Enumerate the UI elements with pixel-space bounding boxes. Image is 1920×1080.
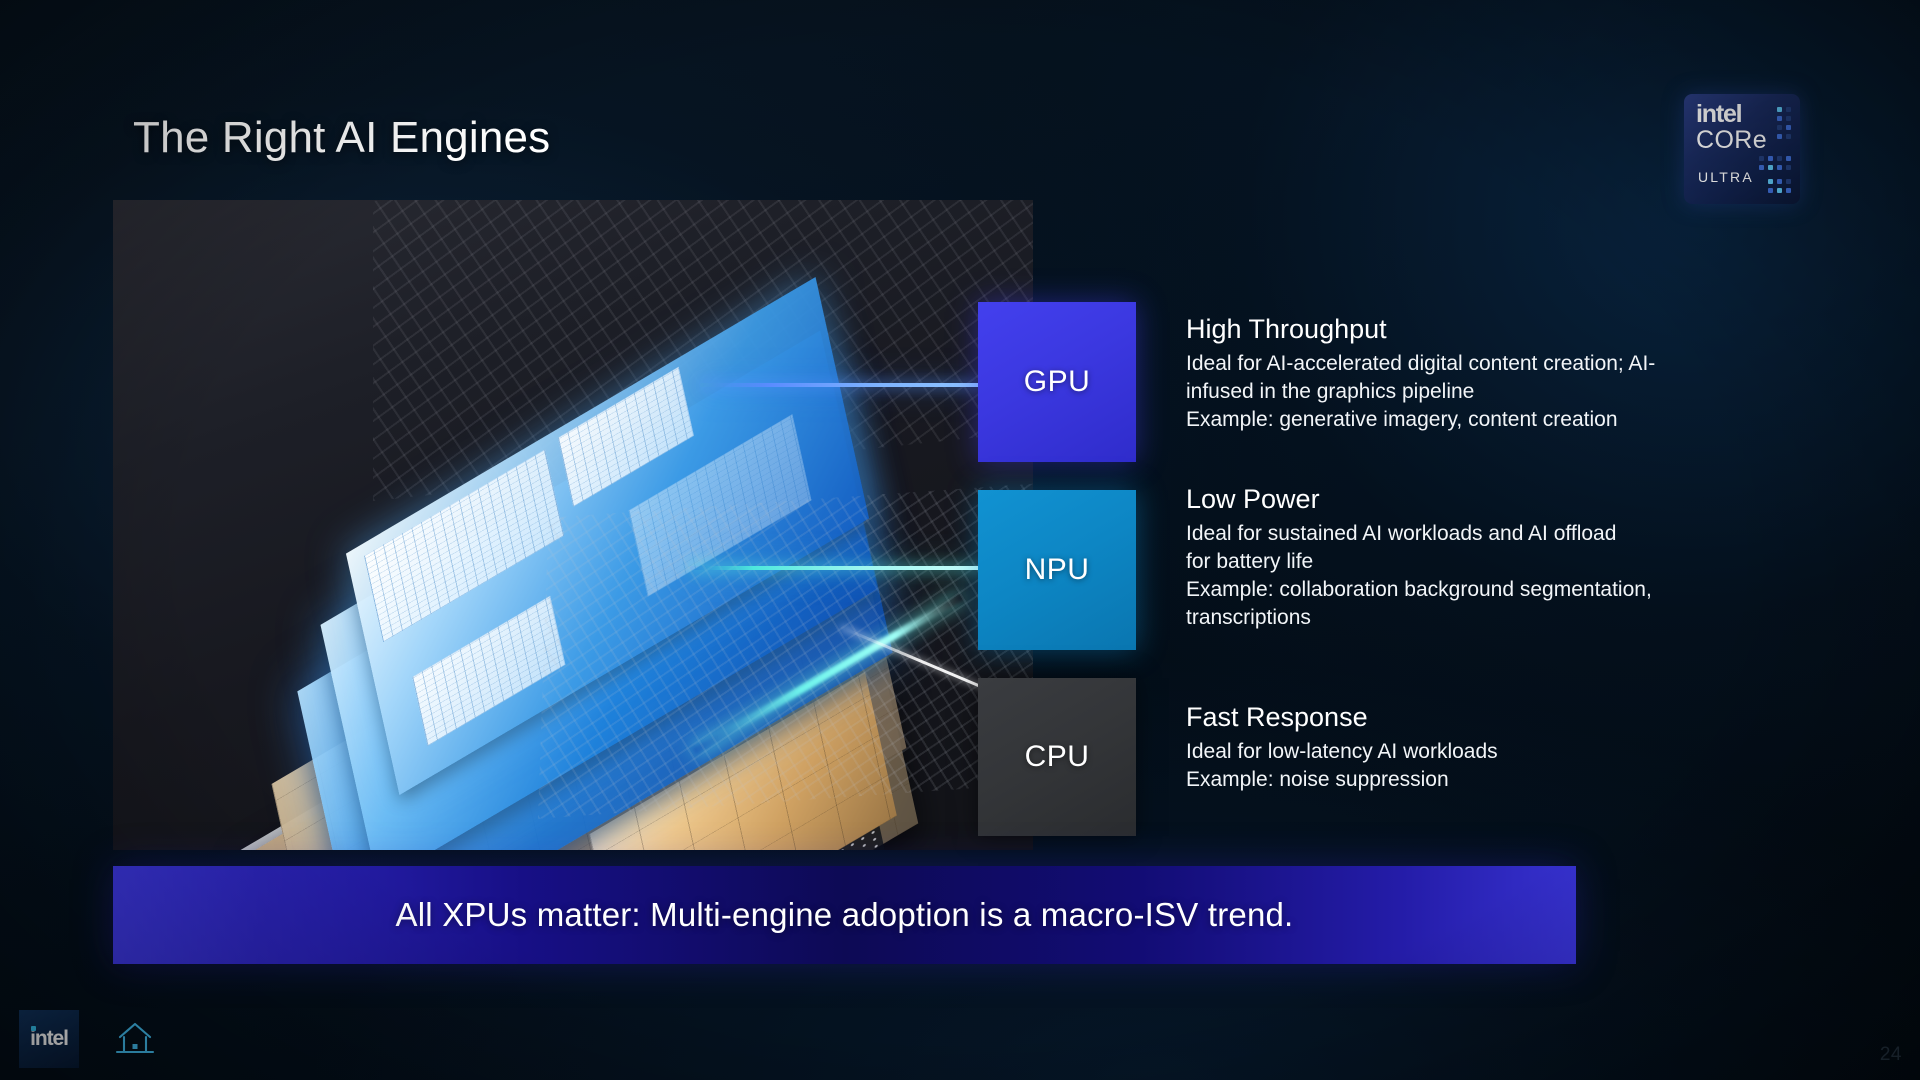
engine-npu-line-3: Example: collaboration background segmen…: [1186, 576, 1786, 604]
connector-line-npu: [690, 566, 980, 570]
engine-chip-cpu[interactable]: CPU: [978, 678, 1136, 836]
connector-line-gpu: [700, 383, 980, 387]
engine-chip-npu-label: NPU: [1025, 553, 1090, 587]
intel-logo: intel: [19, 1010, 79, 1068]
engine-gpu-line-3: Example: generative imagery, content cre…: [1186, 406, 1786, 434]
slide-canvas: The Right AI Engines intel CORe ULTRA: [0, 0, 1920, 1080]
badge-dots-bottom-right-icon: [1768, 179, 1791, 193]
engine-description-gpu: High Throughput Ideal for AI-accelerated…: [1186, 314, 1786, 434]
engine-chip-gpu-label: GPU: [1024, 365, 1091, 399]
engine-cpu-line-1: Ideal for low-latency AI workloads: [1186, 738, 1786, 766]
intel-core-ultra-badge: intel CORe ULTRA: [1684, 94, 1800, 204]
engine-cpu-line-2: Example: noise suppression: [1186, 766, 1786, 794]
engine-npu-line-4: transcriptions: [1186, 604, 1786, 632]
engine-chip-npu[interactable]: NPU: [978, 490, 1136, 650]
badge-dots-top-right-icon: [1777, 107, 1791, 139]
engine-npu-line-2: for battery life: [1186, 548, 1786, 576]
intel-logo-dot-icon: [31, 1026, 36, 1031]
page-title: The Right AI Engines: [133, 116, 550, 160]
page-number: 24: [1880, 1044, 1902, 1066]
badge-dots-middle-icon: [1759, 156, 1791, 170]
home-icon[interactable]: [112, 1016, 158, 1060]
engine-gpu-heading: High Throughput: [1186, 314, 1786, 346]
badge-core-text: CORe: [1696, 128, 1790, 153]
engine-chip-cpu-label: CPU: [1025, 740, 1090, 774]
xpu-summary-banner-text: All XPUs matter: Multi-engine adoption i…: [396, 896, 1294, 934]
engine-description-npu: Low Power Ideal for sustained AI workloa…: [1186, 484, 1786, 632]
engine-npu-heading: Low Power: [1186, 484, 1786, 516]
engine-chip-gpu[interactable]: GPU: [978, 302, 1136, 462]
engine-npu-line-1: Ideal for sustained AI workloads and AI …: [1186, 520, 1786, 548]
xpu-summary-banner: All XPUs matter: Multi-engine adoption i…: [113, 866, 1576, 964]
chip-render-image: [113, 200, 1033, 850]
engine-gpu-line-2: infused in the graphics pipeline: [1186, 378, 1786, 406]
engine-cpu-heading: Fast Response: [1186, 702, 1786, 734]
badge-intel-text: intel: [1696, 103, 1790, 127]
socket-mesh-pattern-lower: [538, 481, 1033, 818]
engine-gpu-line-1: Ideal for AI-accelerated digital content…: [1186, 350, 1786, 378]
engine-description-cpu: Fast Response Ideal for low-latency AI w…: [1186, 702, 1786, 794]
